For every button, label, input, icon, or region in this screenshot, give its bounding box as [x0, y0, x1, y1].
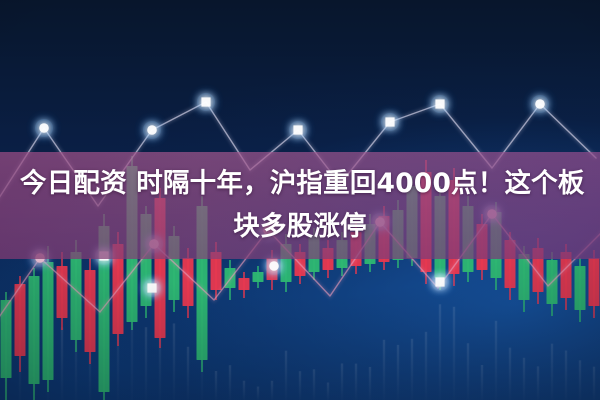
- headline-text-block: 今日配资 时隔十年，沪指重回4000点！这个板 块多股涨停: [0, 152, 600, 259]
- headline-line-1: 今日配资 时隔十年，沪指重回4000点！这个板: [20, 163, 585, 206]
- news-banner-image: 今日配资 时隔十年，沪指重回4000点！这个板 块多股涨停: [0, 0, 600, 400]
- headline-line-2: 块多股涨停: [233, 206, 367, 249]
